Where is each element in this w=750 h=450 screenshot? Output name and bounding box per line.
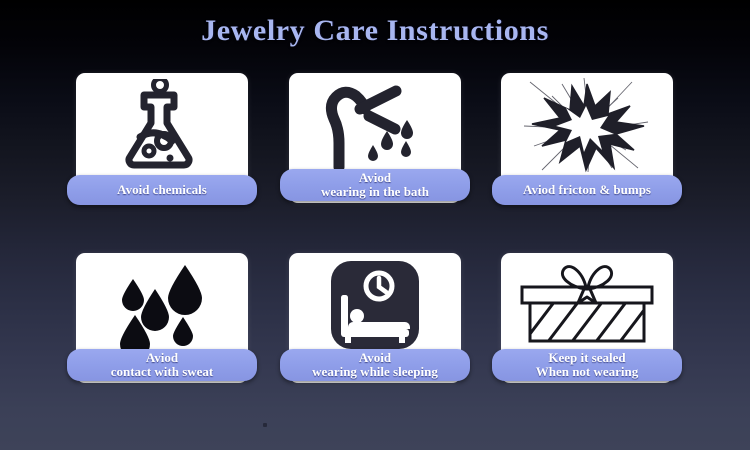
care-card-avoid-friction: Aviod fricton & bumps [501,73,673,203]
flask-icon [76,73,248,177]
care-card-avoid-sleeping: Avoid wearing while sleeping [289,253,461,383]
background-speck [263,423,267,427]
card-label-avoid-bath: Aviod wearing in the bath [280,169,470,201]
shatter-icon [501,73,673,177]
bed-clock-icon [289,253,461,357]
card-label-avoid-sleeping: Avoid wearing while sleeping [280,349,470,381]
card-label-keep-sealed: Keep it sealed When not wearing [492,349,682,381]
care-card-avoid-bath: Aviod wearing in the bath [289,73,461,203]
care-card-avoid-sweat: Aviod contact with sweat [76,253,248,383]
shower-icon [289,73,461,177]
card-label-avoid-chemicals: Avoid chemicals [67,175,257,205]
care-card-keep-sealed: Keep it sealed When not wearing [501,253,673,383]
gift-box-icon [501,253,673,357]
card-label-avoid-friction: Aviod fricton & bumps [492,175,682,205]
care-card-avoid-chemicals: Avoid chemicals [76,73,248,203]
jewelry-care-infographic: Jewelry Care Instructions Avoid chemical… [0,0,750,450]
page-title: Jewelry Care Instructions [0,14,750,48]
card-label-avoid-sweat: Aviod contact with sweat [67,349,257,381]
water-drops-icon [76,253,248,357]
